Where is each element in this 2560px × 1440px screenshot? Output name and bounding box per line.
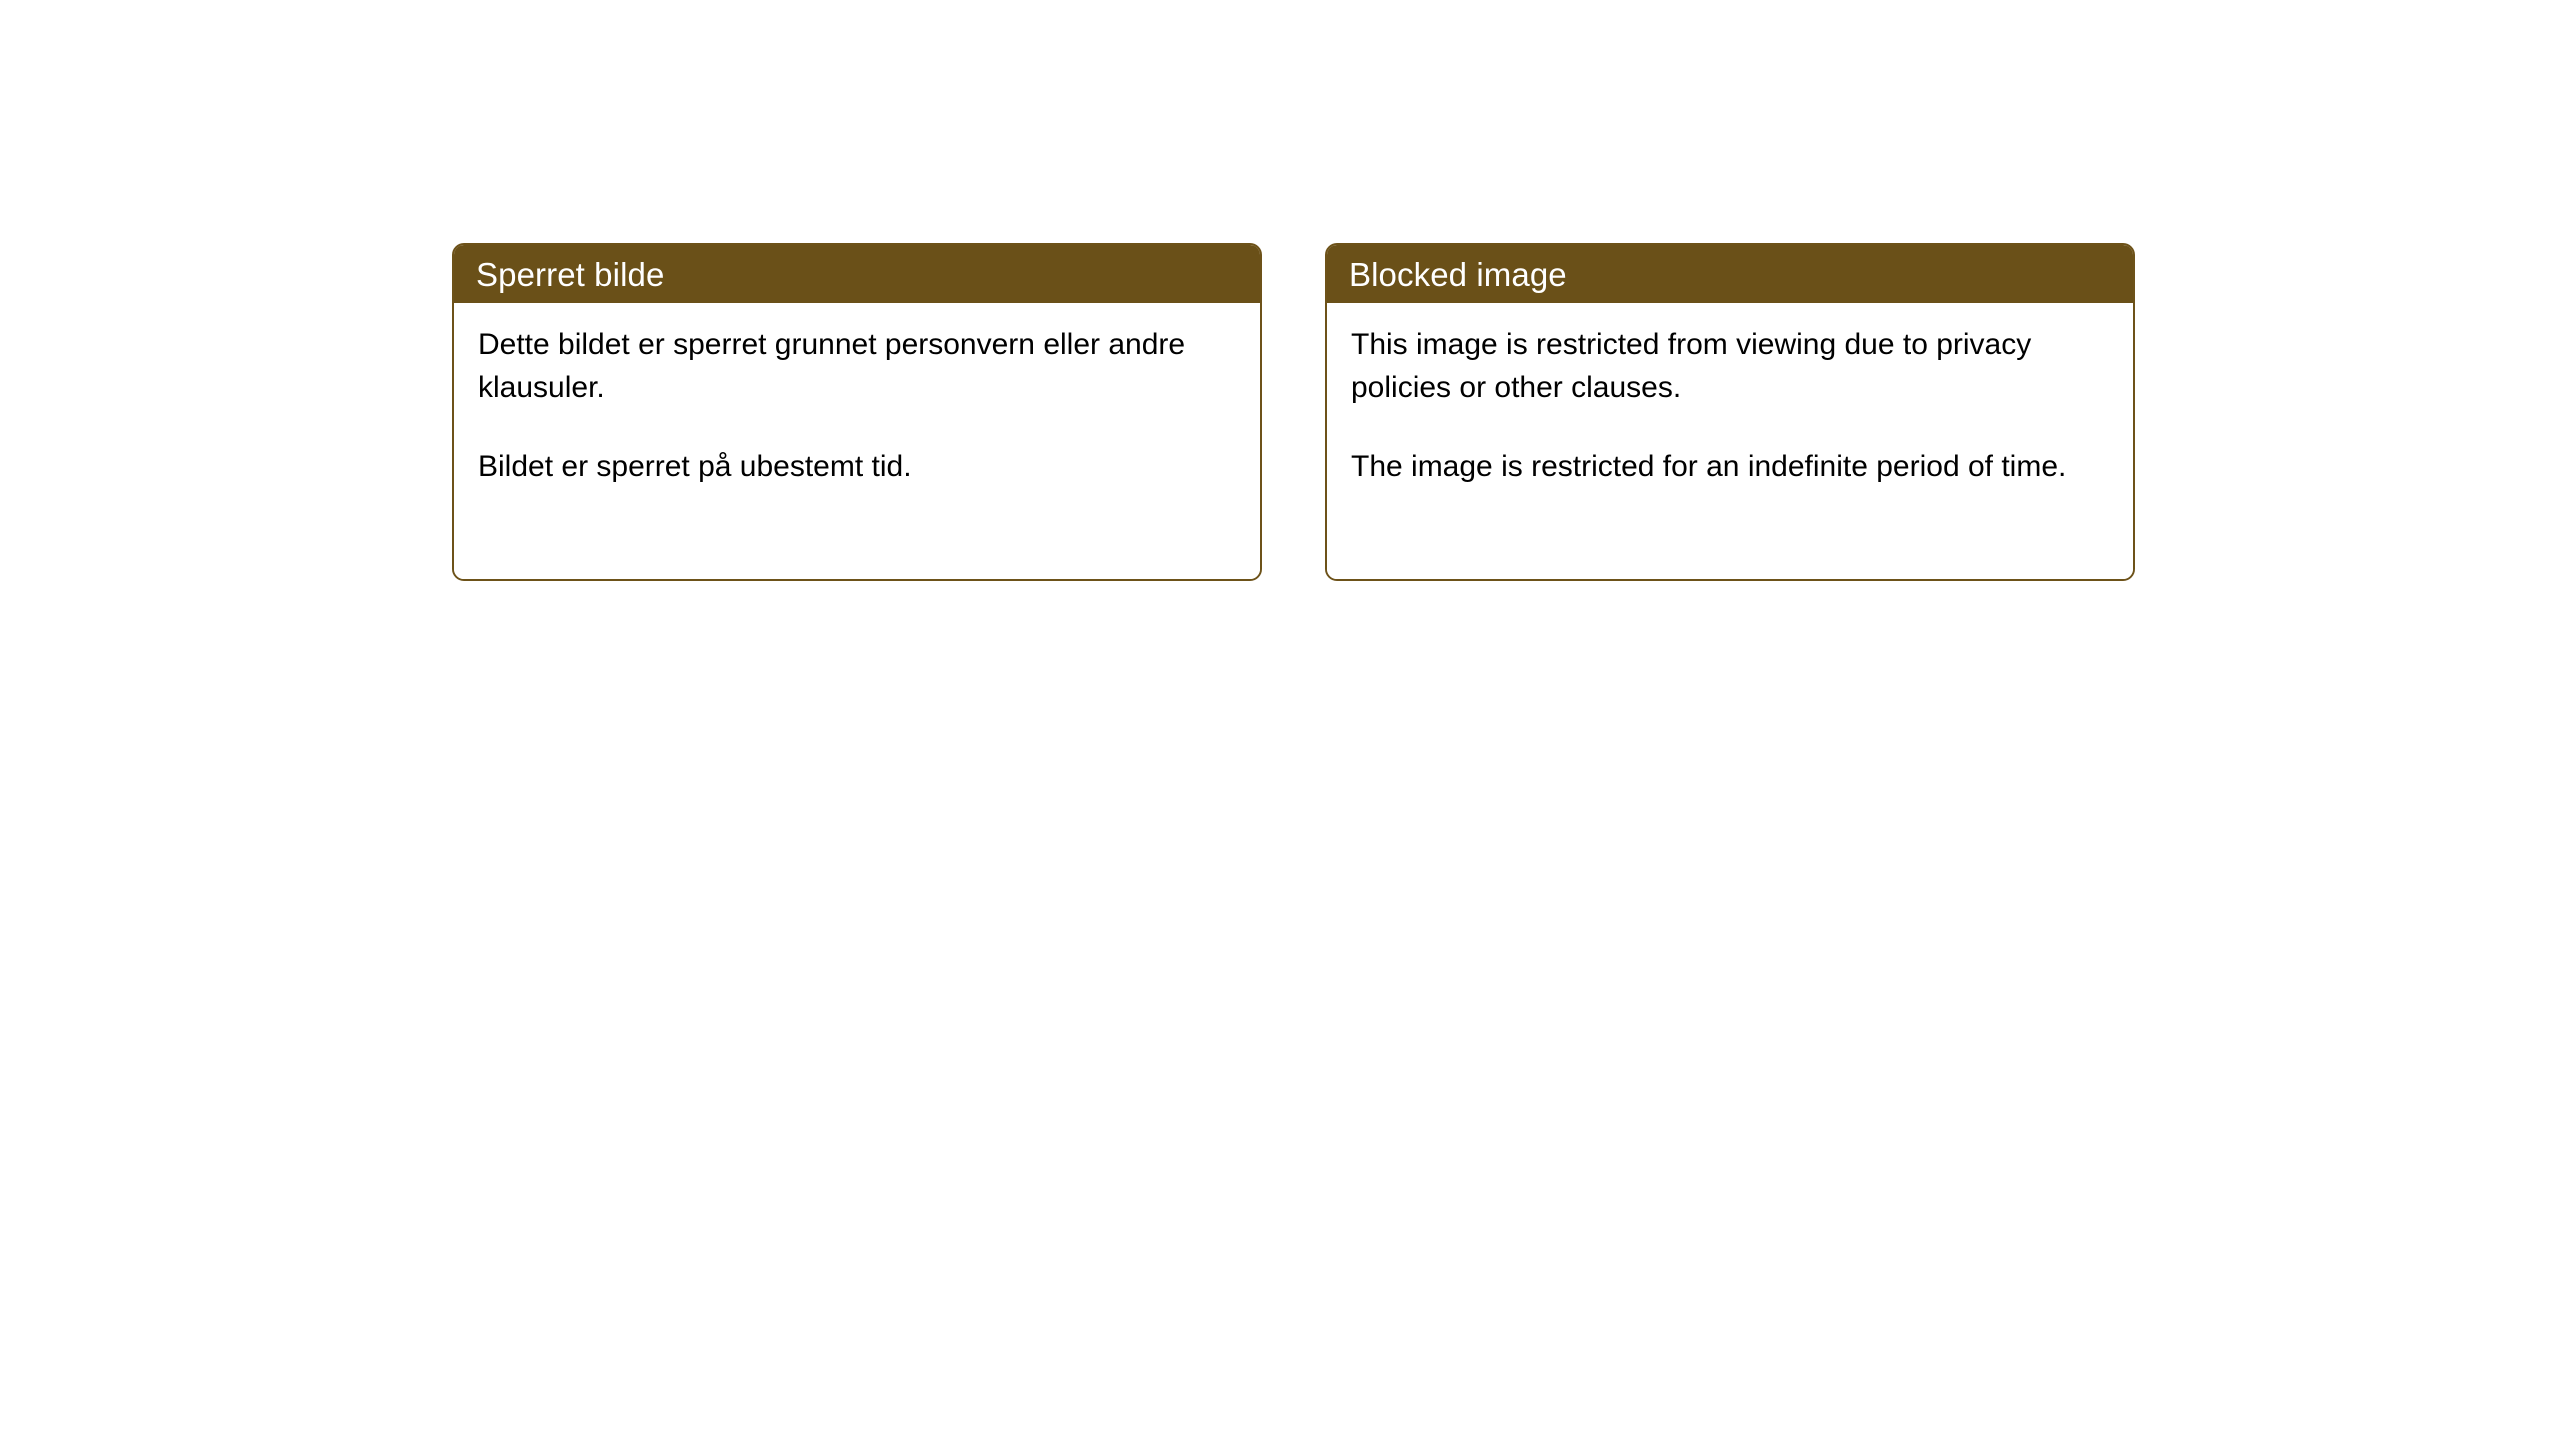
card-paragraph-duration-english: The image is restricted for an indefinit… <box>1351 445 2091 488</box>
blocked-image-notice-group: Sperret bilde Dette bildet er sperret gr… <box>452 243 2135 581</box>
page-root: Sperret bilde Dette bildet er sperret gr… <box>0 0 2560 1440</box>
card-paragraph-privacy-english: This image is restricted from viewing du… <box>1351 323 2091 409</box>
blocked-image-notice-card-norwegian: Sperret bilde Dette bildet er sperret gr… <box>452 243 1262 581</box>
card-body-english: This image is restricted from viewing du… <box>1327 303 2133 579</box>
card-title-english: Blocked image <box>1349 258 1567 291</box>
card-title-norwegian: Sperret bilde <box>476 258 664 291</box>
card-body-norwegian: Dette bildet er sperret grunnet personve… <box>454 303 1260 579</box>
card-paragraph-duration-norwegian: Bildet er sperret på ubestemt tid. <box>478 445 1218 488</box>
card-paragraph-privacy-norwegian: Dette bildet er sperret grunnet personve… <box>478 323 1218 409</box>
card-header-norwegian: Sperret bilde <box>454 245 1260 303</box>
card-header-english: Blocked image <box>1327 245 2133 303</box>
blocked-image-notice-card-english: Blocked image This image is restricted f… <box>1325 243 2135 581</box>
